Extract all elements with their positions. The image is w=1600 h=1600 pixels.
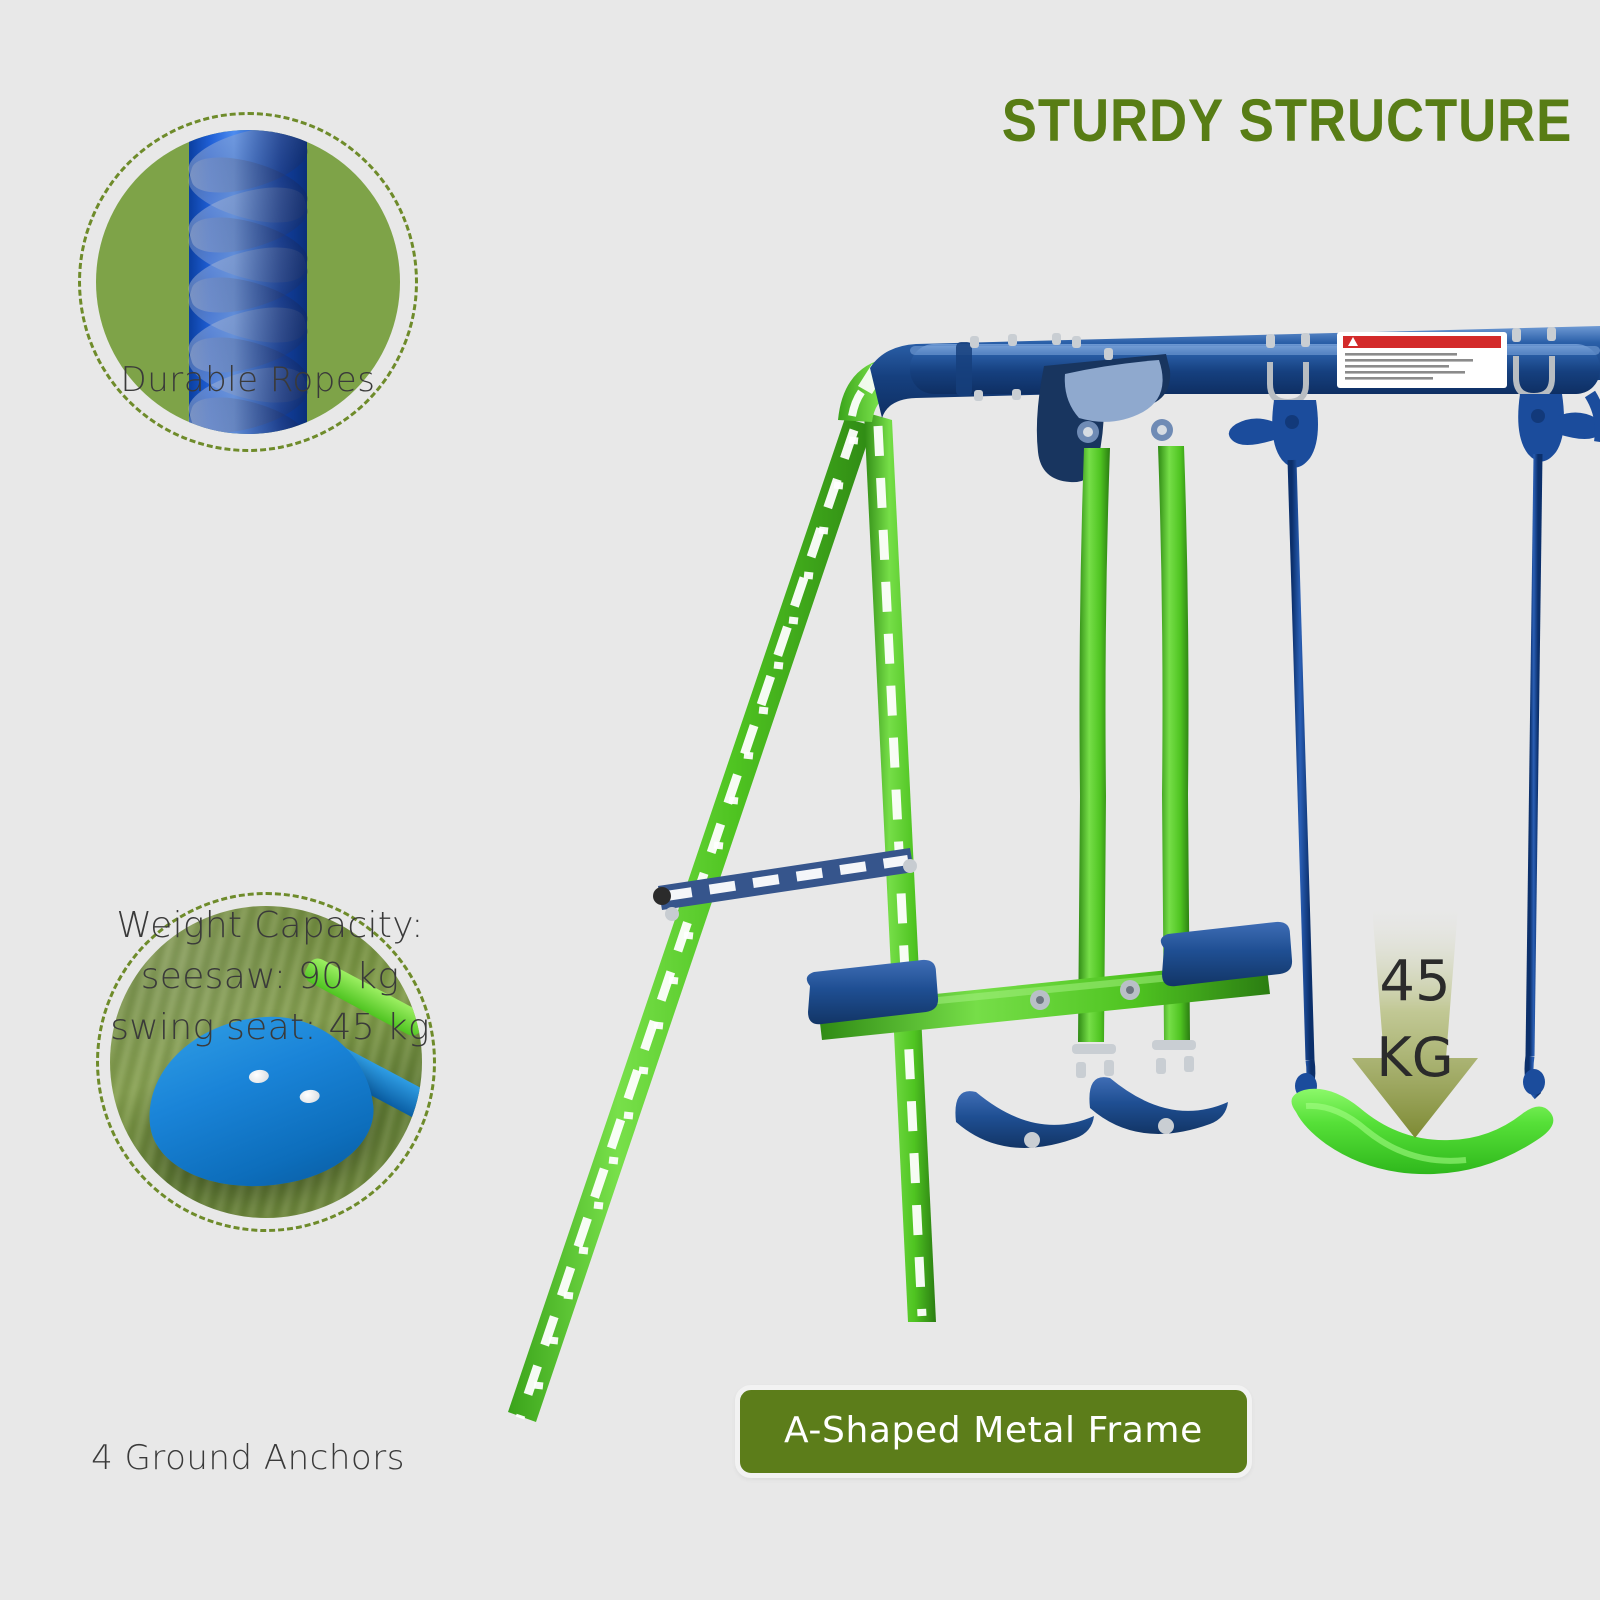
weight-capacity-seesaw: seesaw: 90 kg	[60, 951, 480, 1002]
callout-label-ground-anchors: 4 Ground Anchors	[28, 1438, 468, 1478]
swing-assembly: 45 KG	[1229, 327, 1600, 1174]
swing-rope-left	[1292, 460, 1310, 1060]
load-arrow-unit: KG	[1376, 1026, 1453, 1089]
weight-capacity-heading: Weight Capacity:	[60, 900, 480, 951]
glider-arm-left	[1078, 448, 1110, 1042]
infographic-canvas: STURDY STRUCTURE Durable Ropes	[0, 0, 1600, 1600]
rope-adjuster-right	[1518, 394, 1564, 462]
frame-badge: A-Shaped Metal Frame	[735, 1385, 1252, 1478]
rope-adjuster-left	[1272, 400, 1318, 468]
adjust-collar	[1072, 1040, 1196, 1078]
a-frame-front-leg	[508, 418, 873, 1422]
weight-capacity-block: Weight Capacity: seesaw: 90 kg swing sea…	[60, 900, 480, 1053]
page-title: STURDY STRUCTURE	[1002, 86, 1572, 155]
weight-capacity-swing: swing seat: 45 kg	[60, 1002, 480, 1053]
callout-durable-ropes	[78, 112, 418, 452]
rope-hanger-right	[1512, 327, 1600, 1096]
rope-knot-right	[1523, 1069, 1545, 1095]
load-arrow-badge: 45 KG	[1352, 908, 1478, 1138]
beam-collar	[956, 342, 972, 396]
swing-rope-right	[1530, 454, 1538, 1056]
dashed-circle-border	[78, 112, 418, 452]
warning-label	[1337, 332, 1507, 388]
load-arrow-value: 45	[1379, 949, 1450, 1014]
callout-label-durable-ropes: Durable Ropes	[38, 360, 458, 400]
swing-set-illustration: 45 KG	[440, 300, 1600, 1460]
